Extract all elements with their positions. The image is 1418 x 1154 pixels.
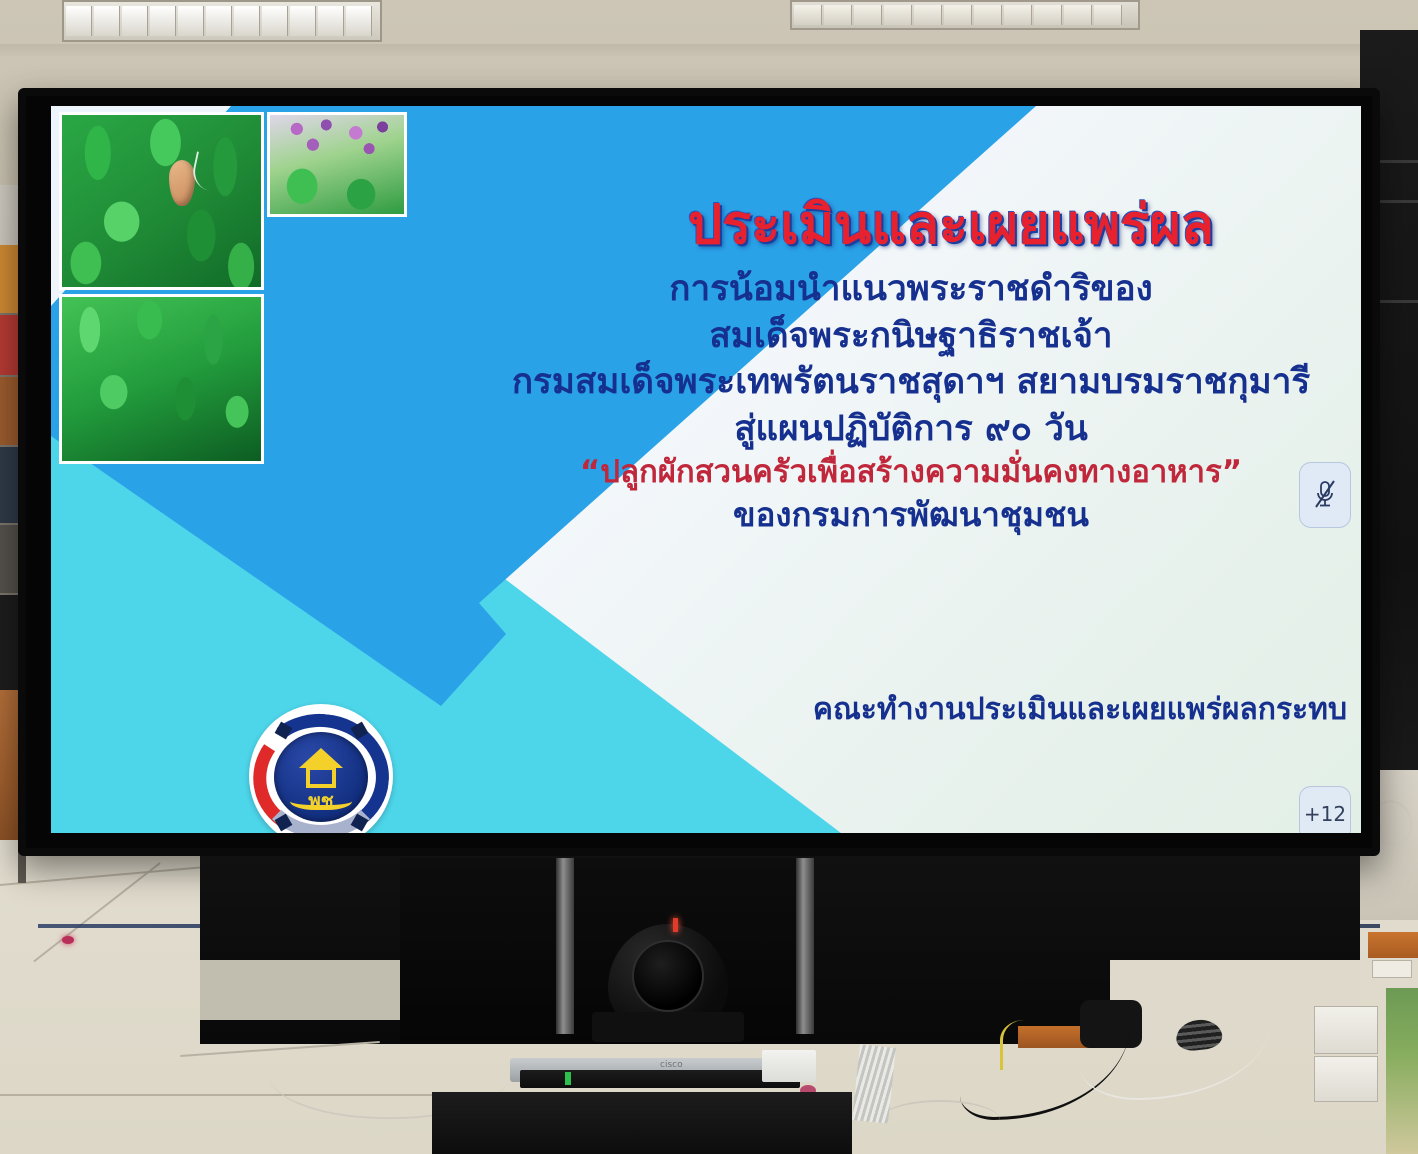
participant-count-badge[interactable]: +12 [1299, 786, 1351, 833]
vegetable-photo-collage [59, 112, 479, 532]
microphone-muted-button[interactable] [1299, 462, 1351, 528]
cisco-codec-face [520, 1070, 800, 1088]
cabinet-open-left [200, 960, 400, 1020]
photo-flowering-vegetables [267, 112, 407, 217]
tray-pad [762, 1050, 816, 1082]
yellow-cable [1000, 1020, 1060, 1070]
microphone-muted-icon [1314, 480, 1336, 510]
equipment-box-lower [1314, 1056, 1378, 1102]
pavilion-roof-icon [299, 748, 343, 768]
presentation-slide: ประเมินและเผยแพร่ผล การน้อมนำแนวพระราชดำ… [51, 106, 1361, 833]
codec-power-led [565, 1072, 571, 1085]
tv-stand-base [432, 1092, 852, 1154]
right-plant [1386, 988, 1418, 1154]
right-small-box [1372, 960, 1412, 978]
slide-body-line-2: สมเด็จพระกนิษฐาธิราชเจ้า [471, 313, 1351, 360]
camera-base [592, 1012, 744, 1042]
slide-body-line-1: การน้อมนำแนวพระราชดำริของ [471, 266, 1351, 313]
lg-television: ประเมินและเผยแพร่ผล การน้อมนำแนวพระราชดำ… [18, 88, 1380, 856]
tv-stand-post-right [796, 858, 814, 1034]
cisco-brand-label: cisco [660, 1060, 683, 1070]
slide-body: การน้อมนำแนวพระราชดำริของ สมเด็จพระกนิษฐ… [471, 266, 1351, 537]
photo-bitter-gourd [59, 112, 264, 290]
ptz-camera-lens [632, 940, 704, 1012]
tv-stand-post-left [556, 858, 574, 1034]
ceiling-light-fixture [62, 0, 382, 42]
right-desk [1368, 932, 1418, 958]
slide-body-line-4: สู่แผนปฏิบัติการ ๙๐ วัน [471, 406, 1351, 453]
cdd-emblem-logo: พช [241, 696, 401, 833]
tv-power-led [62, 936, 74, 944]
ceiling-light-fixture-2 [790, 0, 1140, 30]
slide-title: ประเมินและเผยแพร่ผล [581, 181, 1321, 267]
tv-screen: ประเมินและเผยแพร่ผล การน้อมนำแนวพระราชดำ… [51, 106, 1361, 833]
slide-body-line-3: กรมสมเด็จพระเทพรัตนราชสุดาฯ สยามบรมราชกุ… [471, 359, 1351, 406]
photo-leafy-greens [59, 294, 264, 464]
slide-org-line: ของกรมการพัฒนาชุมชน [471, 493, 1351, 537]
ceiling-beam [0, 44, 1418, 56]
cdd-logo-initials: พช [274, 786, 368, 816]
conference-room-scene: ประเมินและเผยแพร่ผล การน้อมนำแนวพระราชดำ… [0, 0, 1418, 1154]
slide-quote-line: “ปลูกผักสวนครัวเพื่อสร้างความมั่นคงทางอา… [471, 452, 1351, 493]
equipment-box-upper [1314, 1006, 1378, 1054]
floor-cable-center [880, 1100, 1000, 1140]
camera-status-led [673, 918, 678, 932]
slide-byline: คณะทำงานประเมินและเผยแพร่ผลกระทบ [471, 686, 1351, 733]
